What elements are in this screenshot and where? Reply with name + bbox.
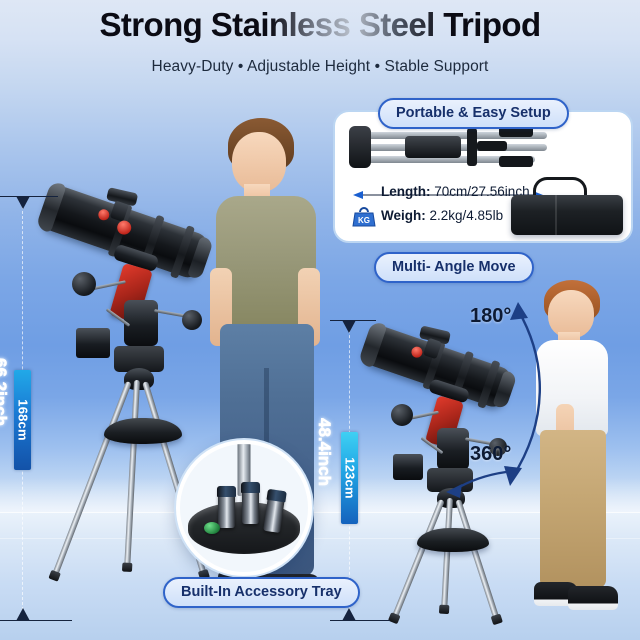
child-shoe bbox=[568, 586, 618, 610]
folded-tripod-image bbox=[349, 126, 549, 174]
page-title: Strong Stainless Steel Tripod bbox=[0, 6, 640, 44]
badge-multi-angle-move[interactable]: Multi- Angle Move bbox=[374, 252, 534, 283]
badge-built-in-accessory-tray[interactable]: Built-In Accessory Tray bbox=[163, 577, 360, 608]
product-infographic: Strong Stainless Steel Tripod Heavy-Duty… bbox=[0, 0, 640, 640]
weight-label: Weigh: bbox=[381, 208, 426, 223]
measurement-cm-123: 123cm bbox=[342, 457, 357, 498]
angle-label-180: 180° bbox=[470, 305, 511, 328]
measurement-cm-168: 168cm bbox=[15, 399, 30, 440]
eyepiece bbox=[218, 486, 235, 528]
kg-weight-icon: KG bbox=[351, 205, 377, 227]
page-subtitle: Heavy-Duty • Adjustable Height • Stable … bbox=[0, 58, 640, 76]
counterweight bbox=[391, 404, 413, 426]
accessory-tray bbox=[104, 418, 182, 444]
carry-bag-image bbox=[511, 175, 623, 235]
tripod-leg bbox=[392, 499, 445, 618]
counterweight-block bbox=[76, 328, 110, 358]
adult-head bbox=[232, 132, 286, 192]
accessory-tray bbox=[417, 528, 489, 552]
counterweight bbox=[182, 310, 202, 330]
accessory-tray-closeup bbox=[176, 440, 312, 576]
tripod-leg bbox=[124, 380, 140, 566]
weight-value: 2.2kg/4.85lb bbox=[430, 208, 504, 223]
spec-card: KG Length: 70cm/27.56inch Weigh: 2.2kg/4… bbox=[333, 110, 633, 243]
measurement-inch-48: 48.4inch bbox=[314, 418, 334, 486]
length-spec: Length: 70cm/27.56inch bbox=[381, 184, 530, 199]
counterweight-block bbox=[393, 454, 423, 480]
svg-text:KG: KG bbox=[358, 216, 370, 225]
measurement-bar-168cm: 168cm bbox=[14, 370, 31, 470]
tripod-leg bbox=[441, 498, 453, 608]
counterweight bbox=[72, 272, 96, 296]
filter-lens bbox=[204, 522, 220, 534]
badge-portable-easy-setup[interactable]: Portable & Easy Setup bbox=[378, 98, 569, 129]
tripod-leg bbox=[455, 499, 499, 619]
eyepiece bbox=[242, 482, 259, 524]
length-label: Length: bbox=[381, 184, 431, 199]
angle-label-360: 360° bbox=[470, 443, 511, 466]
tripod-leg bbox=[52, 381, 131, 575]
weight-spec: Weigh: 2.2kg/4.85lb bbox=[381, 208, 503, 223]
measurement-bar-123cm: 123cm bbox=[341, 432, 358, 524]
measurement-inch-66: 66.2inch bbox=[0, 358, 10, 426]
